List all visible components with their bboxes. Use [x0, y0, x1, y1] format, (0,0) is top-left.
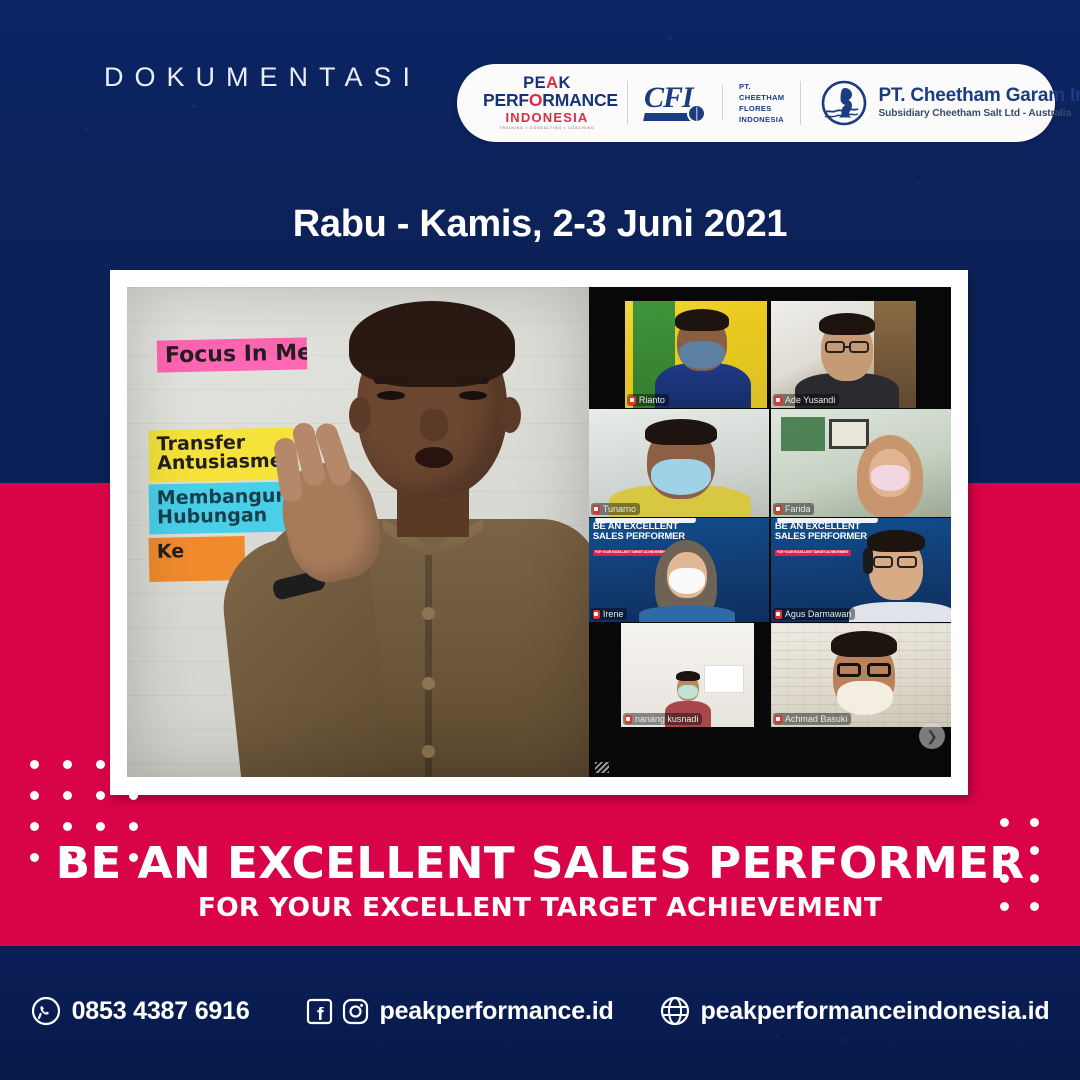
logo-divider-3 [800, 81, 801, 125]
participant-name: nanang kusnadi [635, 714, 699, 724]
mic-muted-icon [775, 715, 782, 724]
cheetham-title: PT. Cheetham Garam Indonesia [878, 86, 1080, 106]
participant-name: Agus Darmawan [785, 609, 852, 619]
mic-muted-icon [625, 715, 632, 724]
cfi-text-line1: PT. [739, 81, 784, 92]
resize-handle[interactable] [595, 762, 609, 773]
mic-muted-icon [629, 396, 636, 405]
participant-name-badge: Irene [591, 608, 628, 620]
participant-name-badge: Rianto [627, 394, 669, 406]
screenshot-image: Focus In Me Transfer Antusiasme Membangu… [127, 287, 951, 777]
peak-logo-line3: INDONESIA [483, 111, 611, 124]
participant-tile[interactable]: BE AN EXCELLENT SALES PERFORMER FOR YOUR… [589, 518, 769, 622]
participant-name-badge: Ade Yusandi [773, 394, 839, 406]
footer-social[interactable]: peakperformance.id [306, 997, 614, 1026]
cheetham-logo: PT. Cheetham Garam Indonesia Subsidiary … [821, 80, 1080, 126]
footer-website[interactable]: peakperformanceindonesia.id [660, 996, 1050, 1026]
peak-logo-line1: PEAK [483, 75, 611, 92]
participant-tile[interactable]: Tunarno [589, 409, 769, 517]
cheetham-seahorse-icon [821, 80, 867, 126]
logo-bar: PEAK PERFORMANCE INDONESIA TRAINING • CO… [457, 64, 1055, 142]
speaker-vignette [127, 287, 589, 777]
participant-name: Irene [603, 609, 624, 619]
participant-name: Achmad Basuki [785, 714, 848, 724]
mic-muted-icon [775, 505, 782, 514]
page-kicker: DOKUMENTASI [104, 64, 421, 91]
speaker-video-pane: Focus In Me Transfer Antusiasme Membangu… [127, 287, 589, 777]
participant-name: Ade Yusandi [785, 395, 835, 405]
participant-name: Tunarno [603, 504, 636, 514]
page-title: BE AN EXCELLENT SALES PERFORMER [0, 838, 1080, 889]
footer-contact-bar: 0853 4387 6916 peakperformance.id peakpe [0, 985, 1080, 1037]
mic-muted-icon [593, 610, 600, 619]
social-handle: peakperformance.id [380, 997, 614, 1026]
participant-tile[interactable]: Farida [771, 409, 951, 517]
globe-icon [660, 996, 690, 1026]
cfi-text-line4: INDONESIA [739, 114, 784, 125]
peak-logo-line2: PERFORMANCE [483, 92, 611, 110]
participant-tile[interactable]: nanang kusnadi [621, 623, 754, 727]
page-subtitle: FOR YOUR EXCELLENT TARGET ACHIEVEMENT [0, 893, 1080, 923]
footer-whatsapp[interactable]: 0853 4387 6916 [31, 996, 250, 1026]
participant-tile[interactable]: Rianto [625, 301, 767, 408]
cfi-globe-icon: CFI [644, 81, 706, 125]
participant-name-badge: Achmad Basuki [773, 713, 852, 725]
participant-name: Farida [785, 504, 811, 514]
poster-canvas: DOKUMENTASI PEAK PERFORMANCE INDONESIA T… [0, 0, 1080, 1080]
cheetham-text: PT. Cheetham Garam Indonesia Subsidiary … [878, 86, 1080, 119]
whatsapp-number: 0853 4387 6916 [72, 997, 250, 1026]
participant-tile[interactable]: Ade Yusandi [771, 301, 916, 408]
participant-name-badge: nanang kusnadi [623, 713, 703, 725]
participant-name: Rianto [639, 395, 665, 405]
peak-logo-tagline: TRAINING • CONSULTING • COACHING [483, 127, 611, 131]
cfi-logo: CFI PT. CHEETHAM FLORES INDONESIA [644, 81, 784, 125]
cfi-company-text: PT. CHEETHAM FLORES INDONESIA [739, 81, 784, 125]
event-date: Rabu - Kamis, 2-3 Juni 2021 [0, 203, 1080, 246]
mic-muted-icon [775, 396, 782, 405]
participant-name-badge: Agus Darmawan [773, 608, 856, 620]
photo-frame: Focus In Me Transfer Antusiasme Membangu… [110, 270, 968, 795]
participant-name-badge: Farida [773, 503, 815, 515]
mic-muted-icon [593, 505, 600, 514]
whatsapp-icon [31, 996, 61, 1026]
facebook-icon [306, 998, 333, 1025]
cfi-text-line3: FLORES [739, 103, 784, 114]
instagram-icon [342, 998, 369, 1025]
chevron-right-icon[interactable]: ❯ [919, 723, 945, 749]
cfi-globe-shape [687, 104, 706, 123]
cfi-text-line2: CHEETHAM [739, 92, 784, 103]
cfi-letters: CFI [644, 83, 693, 113]
peak-performance-logo: PEAK PERFORMANCE INDONESIA TRAINING • CO… [483, 75, 611, 131]
cheetham-subtitle: Subsidiary Cheetham Salt Ltd - Australia [878, 108, 1080, 119]
participant-tile[interactable]: BE AN EXCELLENT SALES PERFORMER FOR YOUR… [771, 518, 951, 622]
website-url: peakperformanceindonesia.id [701, 997, 1050, 1026]
participant-tile[interactable]: Achmad Basuki [771, 623, 951, 727]
participant-name-badge: Tunarno [591, 503, 640, 515]
mic-muted-icon [775, 610, 782, 619]
participant-grid: Rianto Ade Yusandi [589, 287, 951, 777]
logo-divider-1 [627, 81, 628, 125]
logo-divider-2 [722, 85, 723, 121]
